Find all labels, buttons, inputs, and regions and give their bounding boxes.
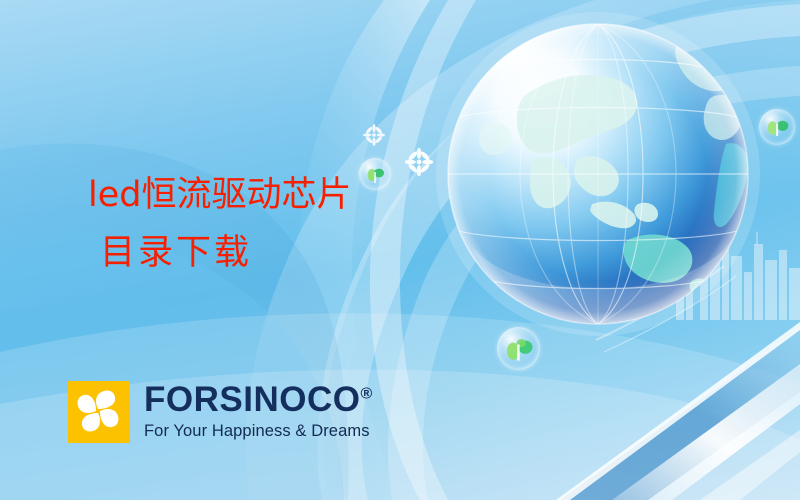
bubble-with-sprout-icon [759, 109, 795, 145]
promo-banner: led恒流驱动芯片 目录下载 FORSINOCO® For Your Happi… [0, 0, 800, 500]
headline: led恒流驱动芯片 目录下载 [88, 166, 418, 282]
logo-text: FORSINOCO® For Your Happiness & Dreams [144, 383, 372, 441]
sprout-icon [497, 327, 540, 370]
earth-globe-icon [432, 8, 764, 340]
company-logo: FORSINOCO® For Your Happiness & Dreams [68, 381, 372, 443]
pinwheel-clover-icon [68, 381, 130, 443]
tagline: For Your Happiness & Dreams [144, 421, 372, 441]
headline-line-1: led恒流驱动芯片 [88, 166, 418, 224]
wordmark-text: FORSINOCO [144, 380, 360, 419]
flower-burst-icon [363, 124, 385, 146]
sprout-icon [759, 109, 795, 145]
wordmark: FORSINOCO® [144, 383, 372, 417]
bubble-with-sprout-icon [497, 327, 540, 370]
headline-line-2: 目录下载 [88, 224, 418, 282]
registered-trademark-icon: ® [360, 385, 372, 402]
